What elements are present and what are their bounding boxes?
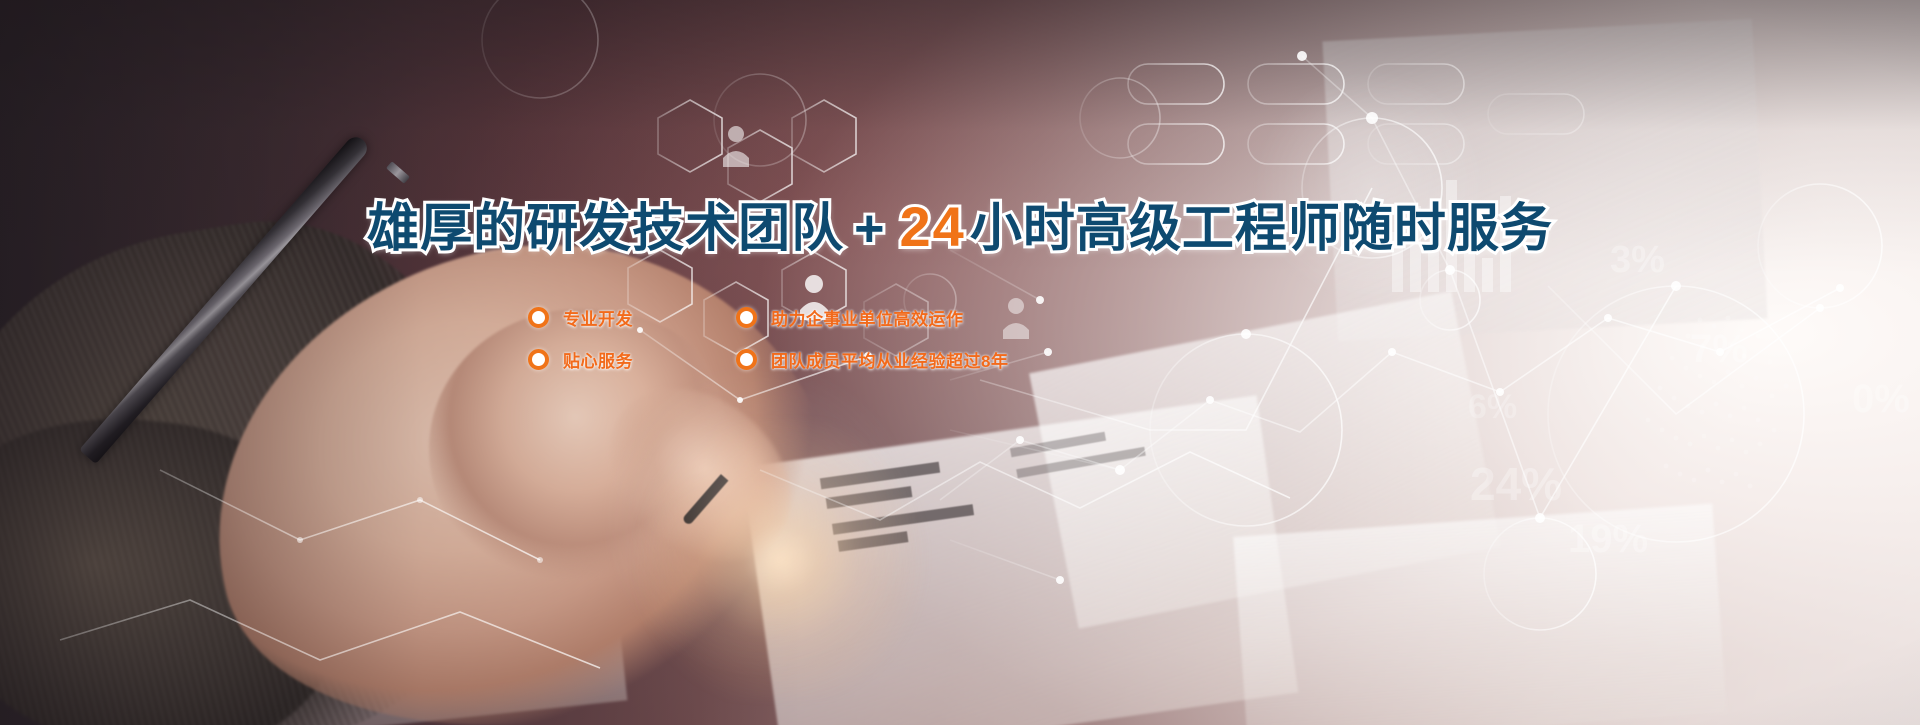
feature-bullet-label: 助力企事业单位高效运作 bbox=[771, 305, 964, 330]
feature-bullet-label: 贴心服务 bbox=[563, 347, 633, 372]
circle-dot-icon bbox=[736, 307, 757, 328]
circle-dot-icon bbox=[528, 307, 549, 328]
circle-dot-icon bbox=[736, 349, 757, 370]
headline-suffix: 小时高级工程师随时服务 bbox=[970, 200, 1553, 258]
feature-bullet: 贴心服务 bbox=[528, 347, 736, 372]
feature-bullet-label: 团队成员平均从业经验超过8年 bbox=[771, 347, 1008, 372]
feature-bullet-label: 专业开发 bbox=[563, 305, 633, 330]
headline-plus: + bbox=[844, 200, 895, 258]
feature-bullet: 团队成员平均从业经验超过8年 bbox=[736, 347, 1008, 372]
headline-number: 24 bbox=[896, 195, 970, 258]
circle-dot-icon bbox=[528, 349, 549, 370]
banner-headline: 雄厚的研发技术团队+24小时高级工程师随时服务 bbox=[0, 186, 1920, 261]
feature-bullet-grid: 专业开发 助力企事业单位高效运作 贴心服务 团队成员平均从业经验超过8年 bbox=[528, 296, 1008, 380]
headline-prefix: 雄厚的研发技术团队 bbox=[367, 200, 844, 258]
hero-banner: 3% 7% 24% 19% 0% 6% bbox=[0, 0, 1920, 725]
feature-bullet: 专业开发 bbox=[528, 305, 736, 330]
feature-bullet: 助力企事业单位高效运作 bbox=[736, 305, 1008, 330]
banner-content: 雄厚的研发技术团队+24小时高级工程师随时服务 专业开发 助力企事业单位高效运作… bbox=[0, 0, 1920, 725]
